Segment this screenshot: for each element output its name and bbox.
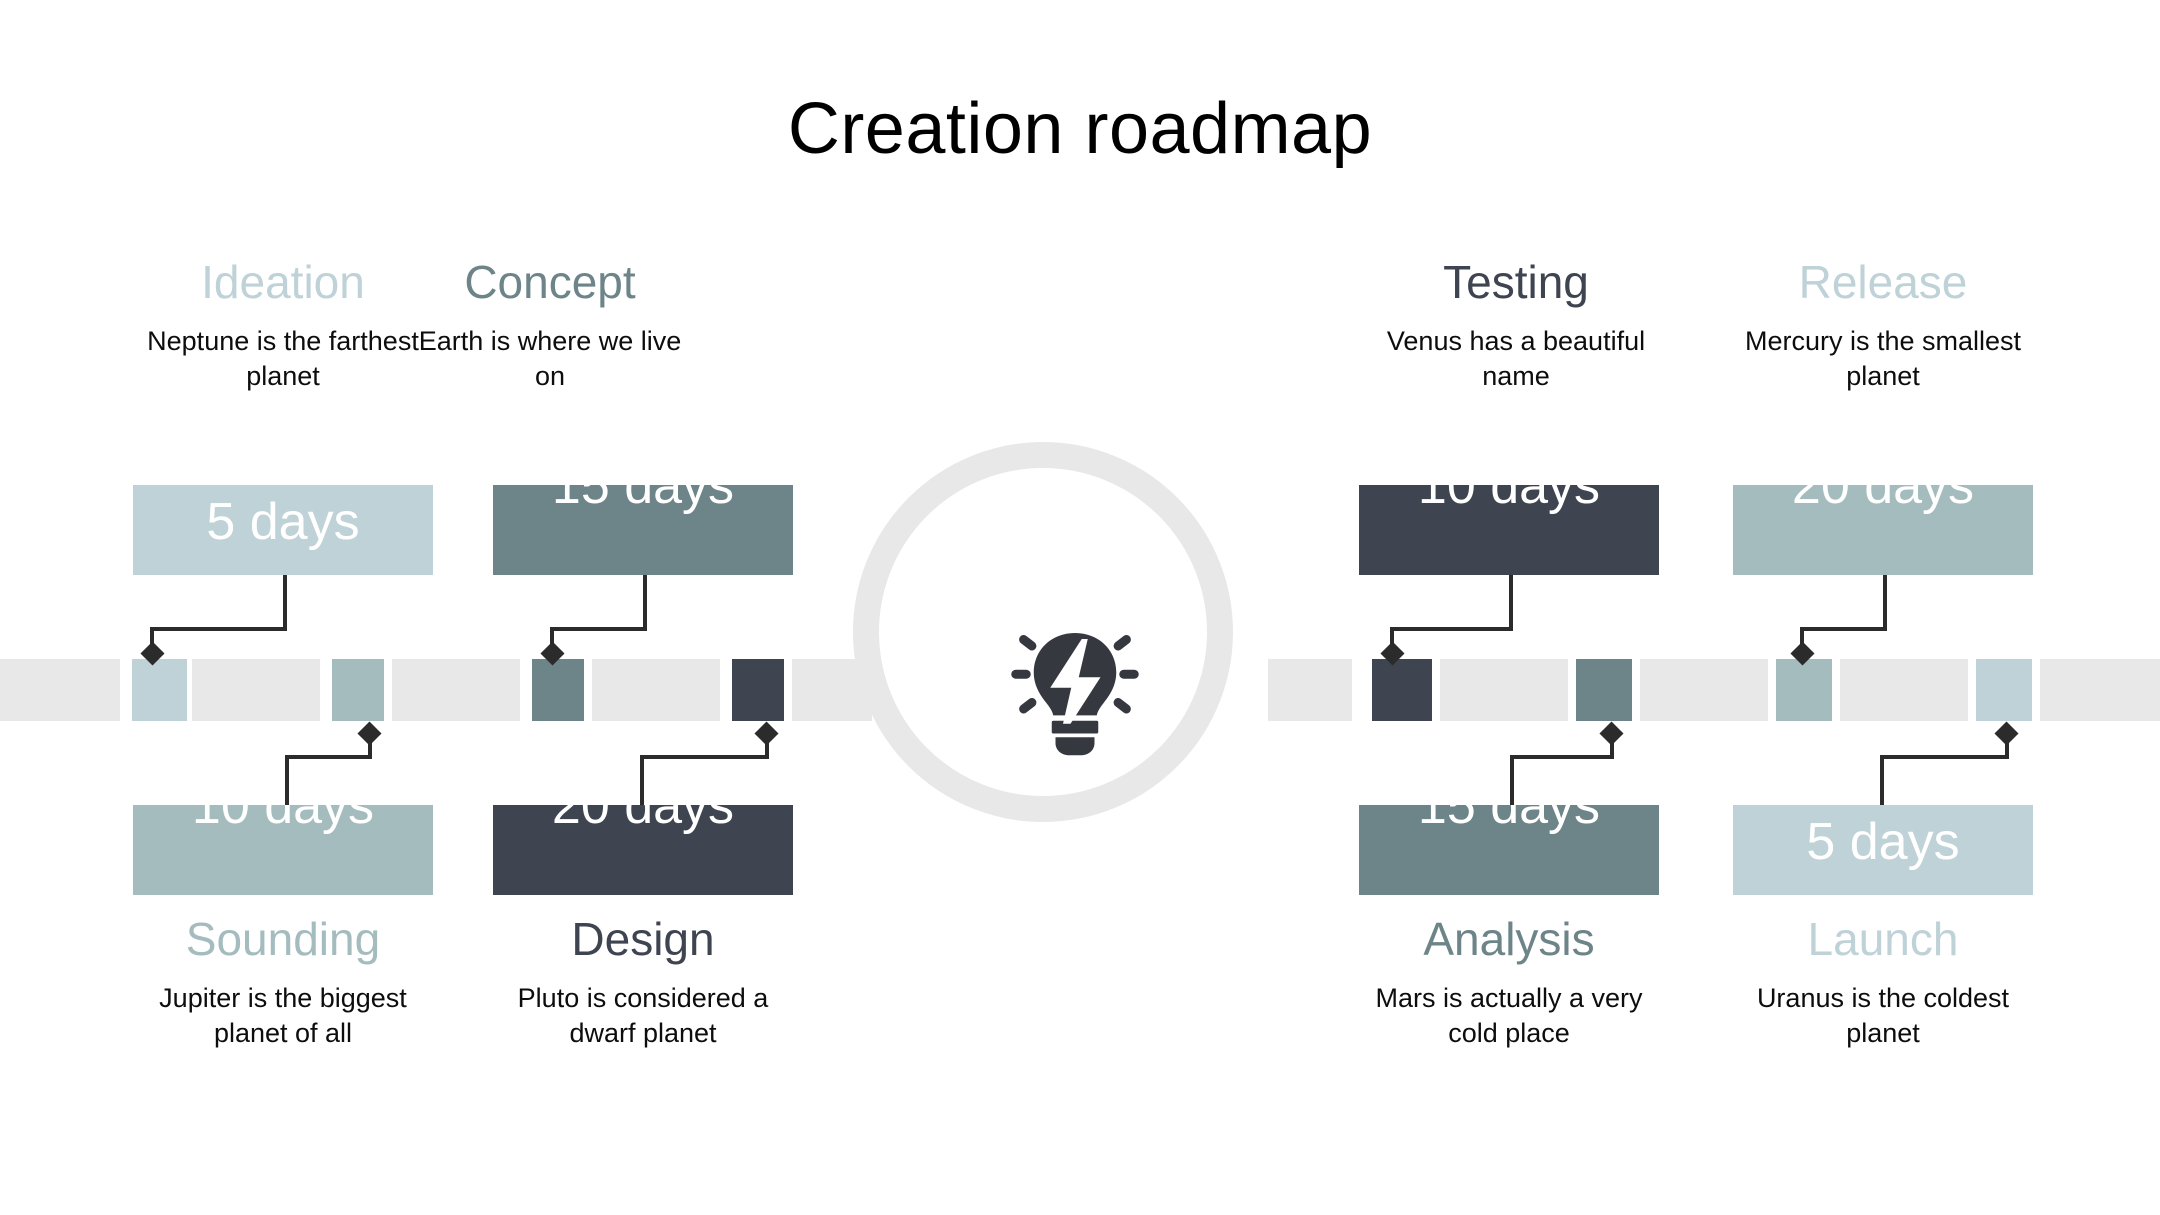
timeline-marker-analysis[interactable] [1576,659,1632,721]
stage-description-sounding: Jupiter is the biggest planet of all [133,981,433,1050]
timeline-marker-testing[interactable] [1372,659,1432,721]
duration-label-ideation: 5 days [133,485,433,551]
connector-release [1800,575,1940,660]
timeline-empty-segment [0,659,120,721]
connector-sounding [285,725,425,810]
connector-launch [1880,725,2020,810]
stage-description-release: Mercury is the smallest planet [1733,324,2033,393]
stage-concept[interactable]: Concept Earth is where we live on [400,258,700,393]
stage-design[interactable]: Design Pluto is considered a dwarf plane… [493,915,793,1050]
duration-label-concept: 15 days [493,485,793,515]
stage-ideation[interactable]: Ideation Neptune is the farthest planet [133,258,433,393]
timeline-empty-segment [2040,659,2160,721]
stage-release[interactable]: Release Mercury is the smallest planet [1733,258,2033,393]
timeline-marker-design[interactable] [732,659,784,721]
duration-card-ideation[interactable]: 5 days [133,485,433,575]
timeline-empty-segment [1640,659,1768,721]
lightbulb-icon [1000,612,1150,762]
stage-title-ideation: Ideation [133,258,433,306]
stage-analysis[interactable]: Analysis Mars is actually a very cold pl… [1359,915,1659,1050]
duration-label-release: 20 days [1733,485,2033,515]
timeline-marker-ideation[interactable] [132,659,187,721]
duration-card-analysis[interactable]: 15 days [1359,805,1659,895]
stage-title-release: Release [1733,258,2033,306]
stage-description-testing: Venus has a beautiful name [1366,324,1666,393]
stage-title-testing: Testing [1366,258,1666,306]
duration-label-sounding: 10 days [133,805,433,835]
stage-sounding[interactable]: Sounding Jupiter is the biggest planet o… [133,915,433,1050]
connector-testing [1390,575,1530,660]
page-title: Creation roadmap [0,90,2160,169]
stage-description-design: Pluto is considered a dwarf planet [493,981,793,1050]
timeline-empty-segment [192,659,320,721]
stage-title-concept: Concept [400,258,700,306]
stage-description-launch: Uranus is the coldest planet [1733,981,2033,1050]
timeline-empty-segment [1440,659,1568,721]
timeline-empty-segment [392,659,520,721]
connector-analysis [1510,725,1650,810]
timeline-empty-segment [1268,659,1352,721]
stage-title-design: Design [493,915,793,963]
timeline-marker-release[interactable] [1776,659,1832,721]
stage-description-ideation: Neptune is the farthest planet [133,324,433,393]
duration-card-testing[interactable]: 10 days [1359,485,1659,575]
timeline-empty-segment [1840,659,1968,721]
duration-label-testing: 10 days [1359,485,1659,515]
connector-design [640,725,780,810]
duration-card-launch[interactable]: 5 days [1733,805,2033,895]
duration-label-launch: 5 days [1733,805,2033,871]
stage-launch[interactable]: Launch Uranus is the coldest planet [1733,915,2033,1050]
connector-ideation [150,575,290,660]
stage-title-launch: Launch [1733,915,2033,963]
stage-description-concept: Earth is where we live on [400,324,700,393]
timeline-marker-sounding[interactable] [332,659,384,721]
connector-concept [550,575,690,660]
stage-description-analysis: Mars is actually a very cold place [1359,981,1659,1050]
duration-card-design[interactable]: 20 days [493,805,793,895]
stage-title-analysis: Analysis [1359,915,1659,963]
stage-testing[interactable]: Testing Venus has a beautiful name [1366,258,1666,393]
duration-label-analysis: 15 days [1359,805,1659,835]
duration-card-release[interactable]: 20 days [1733,485,2033,575]
timeline-empty-segment [592,659,720,721]
stage-title-sounding: Sounding [133,915,433,963]
timeline-marker-concept[interactable] [532,659,584,721]
timeline-marker-launch[interactable] [1976,659,2032,721]
duration-card-concept[interactable]: 15 days [493,485,793,575]
duration-card-sounding[interactable]: 10 days [133,805,433,895]
duration-label-design: 20 days [493,805,793,835]
